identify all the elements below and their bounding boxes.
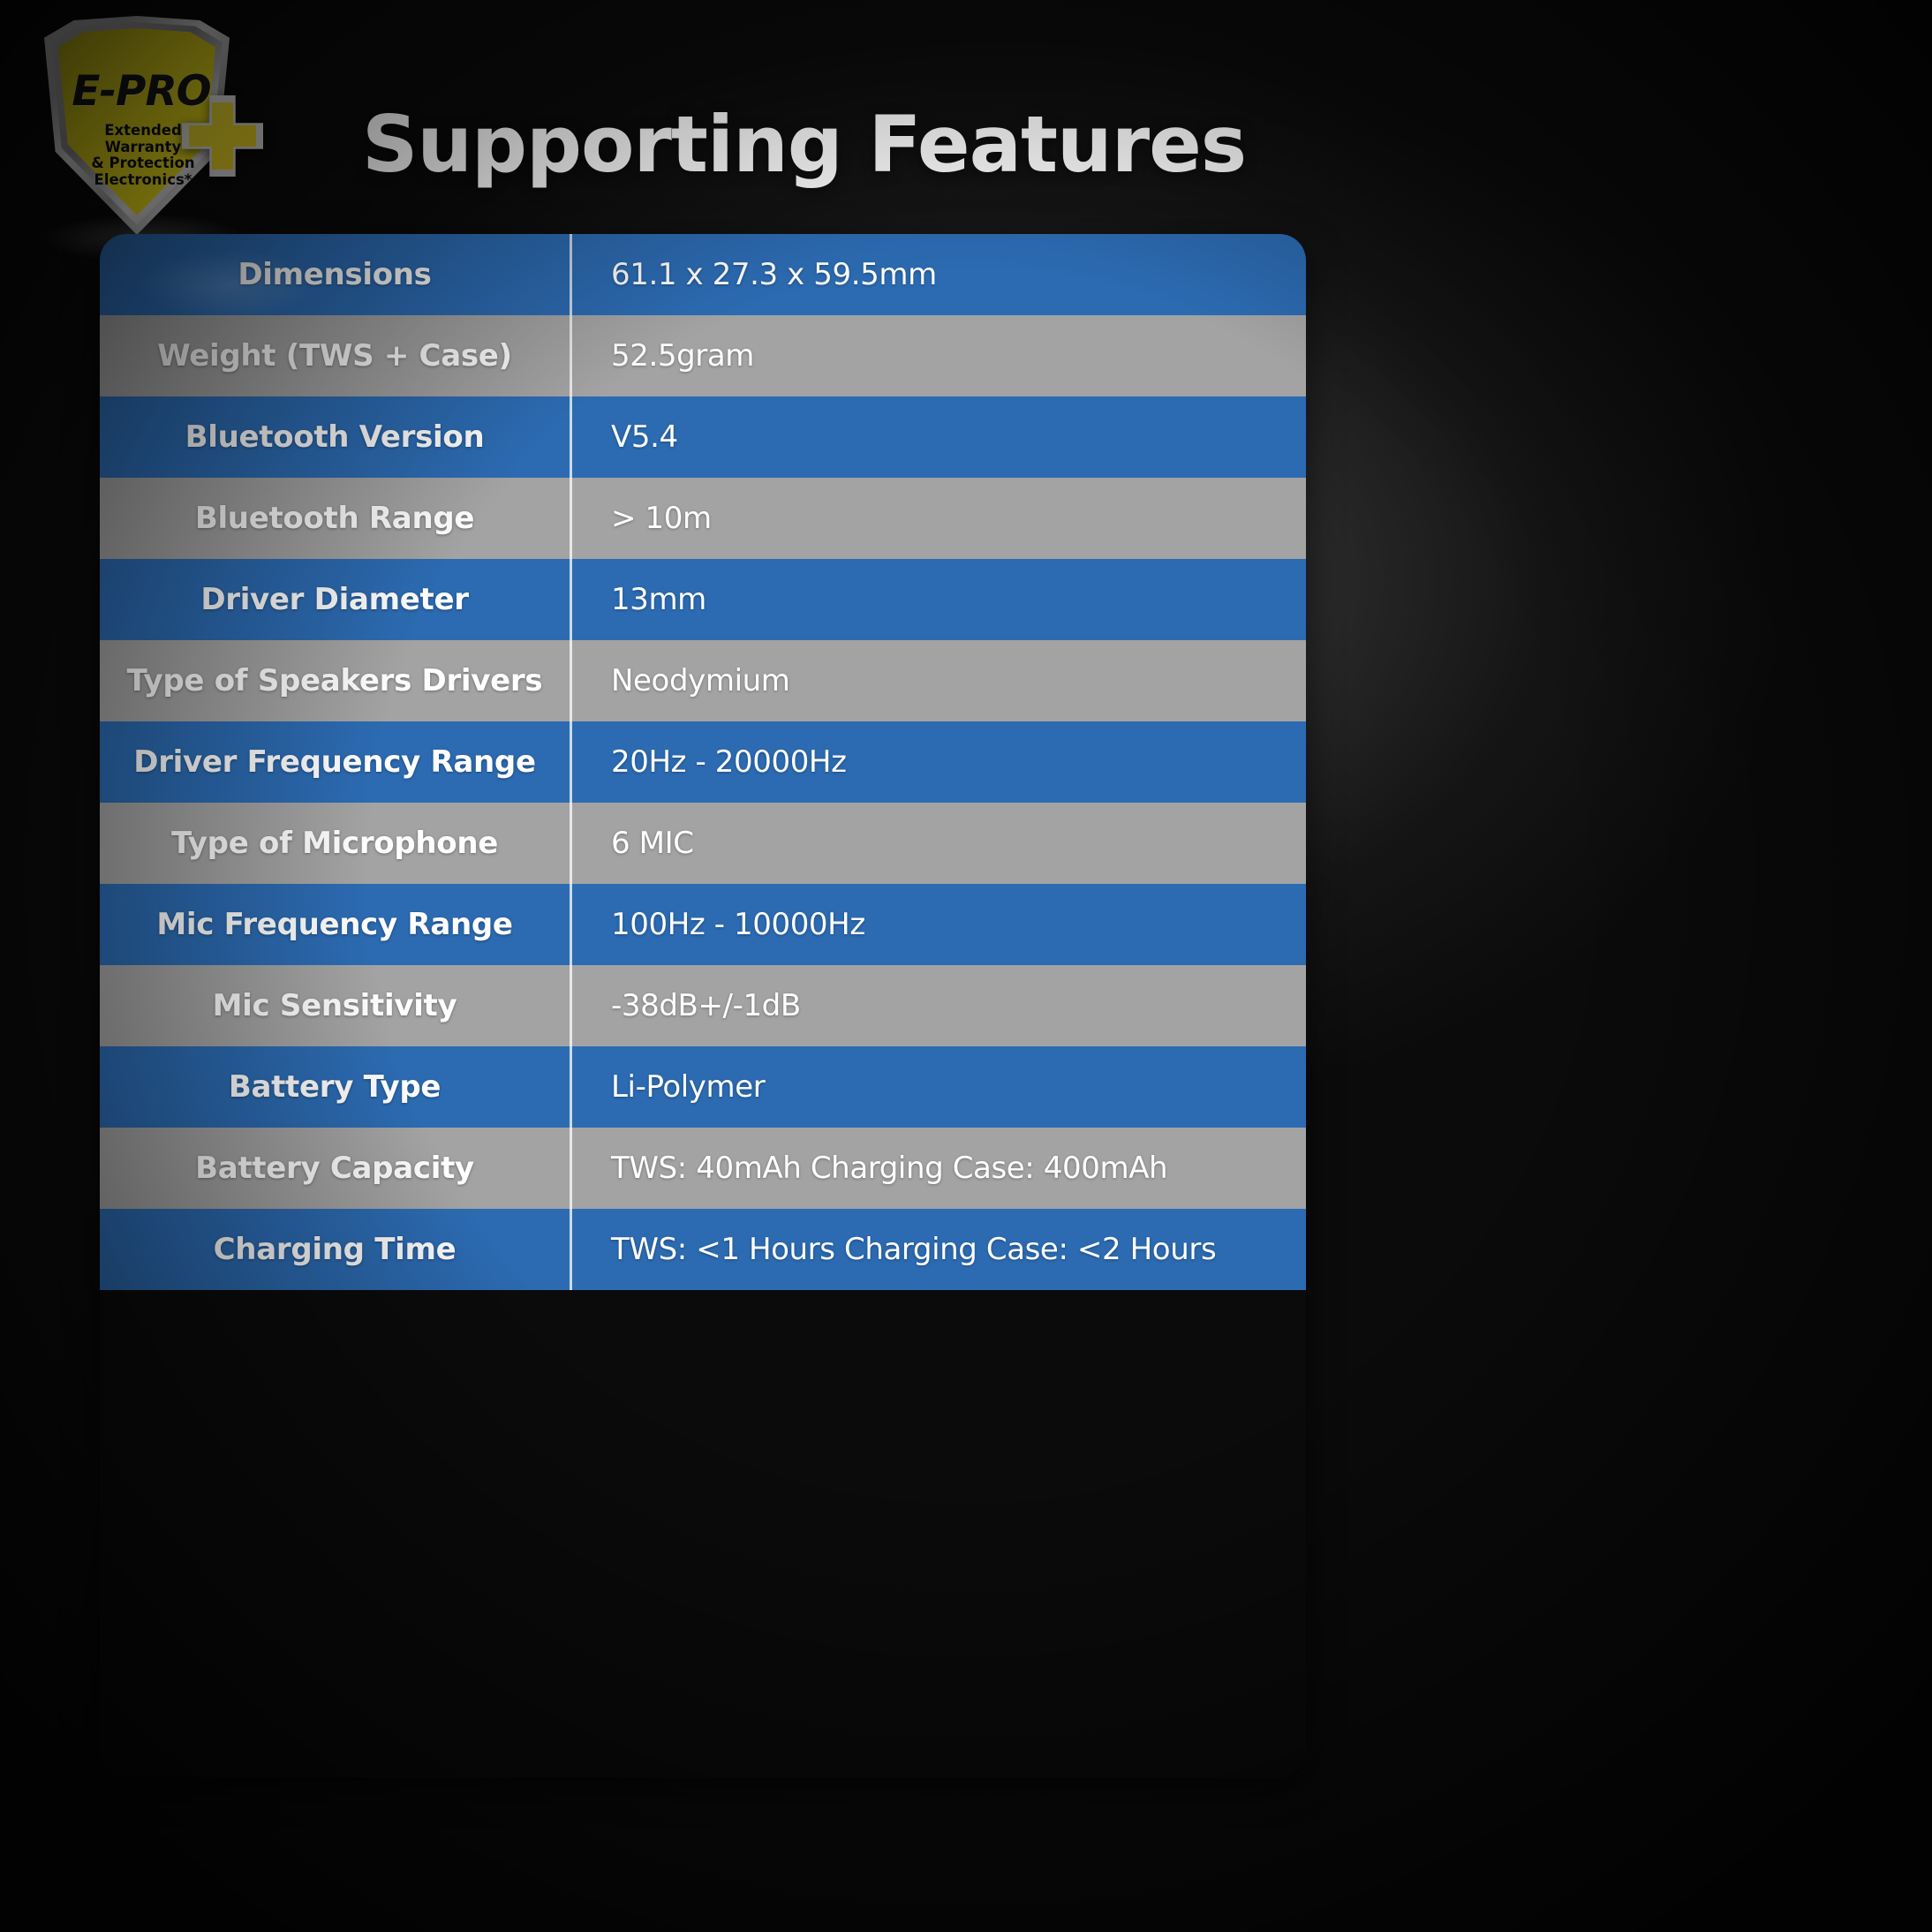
page-title: Supporting Features [362, 99, 1510, 190]
table-row: Battery TypeLi-Polymer [100, 1046, 1306, 1128]
spec-label-cell: Battery Type [100, 1046, 570, 1128]
logo-tagline-text: ExtendedWarranty& ProtectionElectronics* [72, 123, 214, 188]
spec-label-cell: Mic Sensitivity [100, 965, 570, 1046]
logo-tagline-line: & Protection [72, 155, 214, 172]
spec-label-cell: Type of Speakers Drivers [100, 640, 570, 721]
spec-value-cell: V5.4 [572, 396, 1306, 478]
spec-label-cell: Driver Diameter [100, 559, 570, 640]
table-row: Mic Frequency Range100Hz - 10000Hz [100, 884, 1306, 965]
logo-brand-text: E-PRO [69, 67, 214, 116]
table-row: Weight (TWS + Case)52.5gram [100, 315, 1306, 396]
spec-label-cell: Bluetooth Range [100, 478, 570, 559]
logo-tagline-line: Extended [72, 123, 214, 140]
spec-label-cell: Mic Frequency Range [100, 884, 570, 965]
spec-table: Dimensions61.1 x 27.3 x 59.5mmWeight (TW… [100, 234, 1306, 1777]
spec-value-cell: TWS: <1 Hours Charging Case: <2 Hours [572, 1209, 1306, 1290]
spec-value-cell: Li-Polymer [572, 1046, 1306, 1128]
page-root: E-PRO ExtendedWarranty& ProtectionElectr… [0, 0, 1932, 1932]
spec-value-cell: 61.1 x 27.3 x 59.5mm [572, 234, 1306, 315]
spec-label-cell: Dimensions [100, 234, 570, 315]
spec-value-cell: Neodymium [572, 640, 1306, 721]
spec-value-cell: 100Hz - 10000Hz [572, 884, 1306, 965]
spec-label-cell: Charging Time [100, 1209, 570, 1290]
spec-label-cell: Weight (TWS + Case) [100, 315, 570, 396]
table-row: Type of Microphone6 MIC [100, 803, 1306, 884]
spec-value-cell: 20Hz - 20000Hz [572, 721, 1306, 803]
spec-value-cell: -38dB+/-1dB [572, 965, 1306, 1046]
epro-logo: E-PRO ExtendedWarranty& ProtectionElectr… [34, 12, 272, 246]
table-row: Driver Frequency Range20Hz - 20000Hz [100, 721, 1306, 803]
table-row: Bluetooth VersionV5.4 [100, 396, 1306, 478]
logo-tagline-line: Warranty [72, 140, 214, 156]
spec-value-cell: 6 MIC [572, 803, 1306, 884]
table-row: Dimensions61.1 x 27.3 x 59.5mm [100, 234, 1306, 315]
logo-tagline-line: Electronics* [72, 172, 214, 189]
spec-value-cell: 13mm [572, 559, 1306, 640]
table-row: Charging TimeTWS: <1 Hours Charging Case… [100, 1209, 1306, 1290]
table-row: Bluetooth Range> 10m [100, 478, 1306, 559]
spec-value-cell: TWS: 40mAh Charging Case: 400mAh [572, 1128, 1306, 1209]
spec-value-cell: > 10m [572, 478, 1306, 559]
spec-label-cell: Driver Frequency Range [100, 721, 570, 803]
spec-label-cell: Bluetooth Version [100, 396, 570, 478]
spec-label-cell: Type of Microphone [100, 803, 570, 884]
table-row: Driver Diameter13mm [100, 559, 1306, 640]
table-row: Type of Speakers DriversNeodymium [100, 640, 1306, 721]
table-row: Battery CapacityTWS: 40mAh Charging Case… [100, 1128, 1306, 1209]
spec-value-cell: 52.5gram [572, 315, 1306, 396]
table-row: Mic Sensitivity-38dB+/-1dB [100, 965, 1306, 1046]
spec-label-cell: Battery Capacity [100, 1128, 570, 1209]
